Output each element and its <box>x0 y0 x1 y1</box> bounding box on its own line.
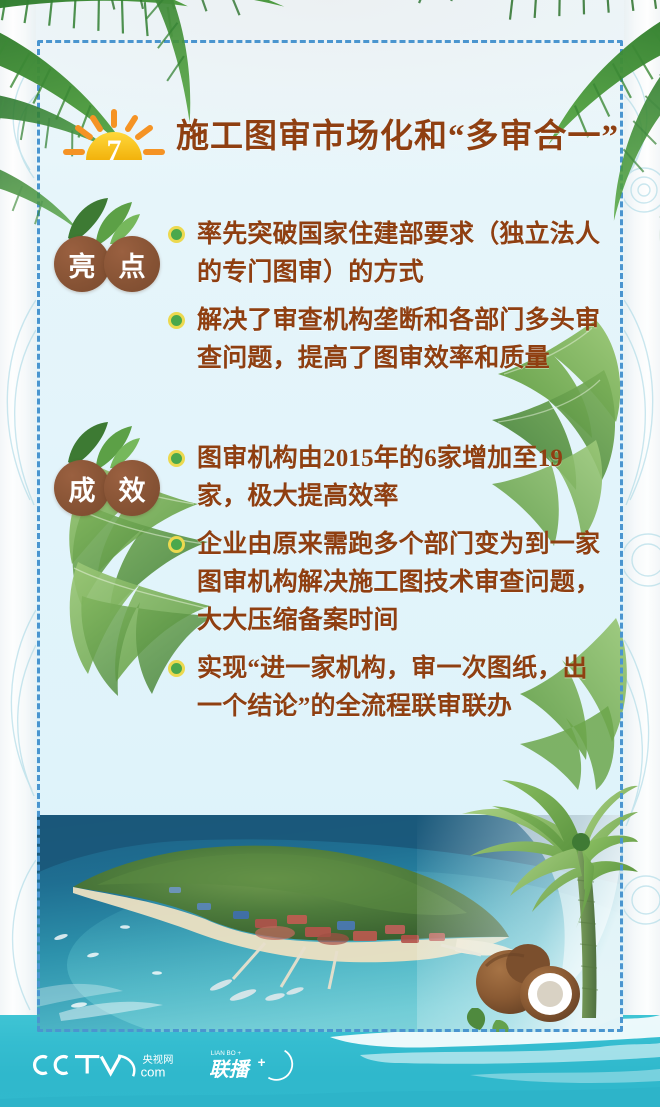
lianbo-text: 联播 <box>209 1059 252 1081</box>
section-results: 成 效 图审机构由2015年的6家增加至19家，极大提高效率 企业由原来需跑多个… <box>48 438 608 736</box>
badge-char-0: 亮 <box>54 236 110 292</box>
section-badge-highlights: 亮 点 <box>48 214 168 292</box>
section-highlights: 亮 点 率先突破国家住建部要求（独立法人的专门图审）的方式 解决了审查机构垄断和… <box>48 214 608 388</box>
poster-root: 7 施工图审市场化和“多审合一” 亮 点 率先突破国家住建部要求（独立法人的专门… <box>0 0 660 1107</box>
list-item: 图审机构由2015年的6家增加至19家，极大提高效率 <box>168 440 608 516</box>
list-item: 企业由原来需跑多个部门变为到一家图审机构解决施工图技术审查问题，大大压缩备案时间 <box>168 526 608 640</box>
sun-number-badge: 7 <box>62 106 166 168</box>
bullet-text: 解决了审查机构垄断和各部门多头审查问题，提高了图审效率和质量 <box>197 302 608 378</box>
cctv-com-text: com <box>141 1064 166 1079</box>
list-item: 解决了审查机构垄断和各部门多头审查问题，提高了图审效率和质量 <box>168 302 608 378</box>
bullet-text: 实现“进一家机构，审一次图纸，出一个结论”的全流程联审联办 <box>197 650 608 726</box>
wave-pattern-left-icon <box>0 0 36 1032</box>
bullet-text: 率先突破国家住建部要求（独立法人的专门图审）的方式 <box>197 216 608 292</box>
page-title: 施工图审市场化和“多审合一” <box>176 121 619 154</box>
bullet-dot-icon <box>168 226 185 243</box>
badge-char-1: 效 <box>104 460 160 516</box>
list-item: 率先突破国家住建部要求（独立法人的专门图审）的方式 <box>168 216 608 292</box>
bullet-dot-icon <box>168 312 185 329</box>
island-aerial-photo <box>37 815 623 1032</box>
badge-pills-results: 成 效 <box>54 460 168 516</box>
cctv-logo-icon: 央视网 com <box>30 1050 195 1080</box>
lianbo-plus-text: + <box>258 1055 266 1070</box>
bullet-list-highlights: 率先突破国家住建部要求（独立法人的专门图审）的方式 解决了审查机构垄断和各部门多… <box>168 214 608 388</box>
list-item: 实现“进一家机构，审一次图纸，出一个结论”的全流程联审联办 <box>168 650 608 726</box>
footer-logos: 央视网 com LIAN BO + 联播 + <box>30 1045 308 1085</box>
badge-char-1: 点 <box>104 236 160 292</box>
section-badge-results: 成 效 <box>48 438 168 516</box>
bullet-list-results: 图审机构由2015年的6家增加至19家，极大提高效率 企业由原来需跑多个部门变为… <box>168 438 608 736</box>
bullet-dot-icon <box>168 660 185 677</box>
section-heading: 7 施工图审市场化和“多审合一” <box>62 106 619 168</box>
bullet-text: 企业由原来需跑多个部门变为到一家图审机构解决施工图技术审查问题，大大压缩备案时间 <box>197 526 608 640</box>
badge-char-0: 成 <box>54 460 110 516</box>
badge-pills-highlights: 亮 点 <box>54 236 168 292</box>
wave-pattern-right-icon <box>624 0 660 1032</box>
bullet-text: 图审机构由2015年的6家增加至19家，极大提高效率 <box>197 440 608 516</box>
sun-icon: 7 <box>62 106 166 168</box>
left-paper-strip <box>0 0 36 1032</box>
bullet-dot-icon <box>168 450 185 467</box>
bullet-dot-icon <box>168 536 185 553</box>
island-illustration <box>37 815 623 1032</box>
right-paper-strip <box>624 0 660 1032</box>
lianbo-logo-icon: LIAN BO + 联播 + <box>209 1047 308 1083</box>
lianbo-pinyin-text: LIAN BO + <box>211 1050 242 1057</box>
sun-number-text: 7 <box>107 134 122 167</box>
